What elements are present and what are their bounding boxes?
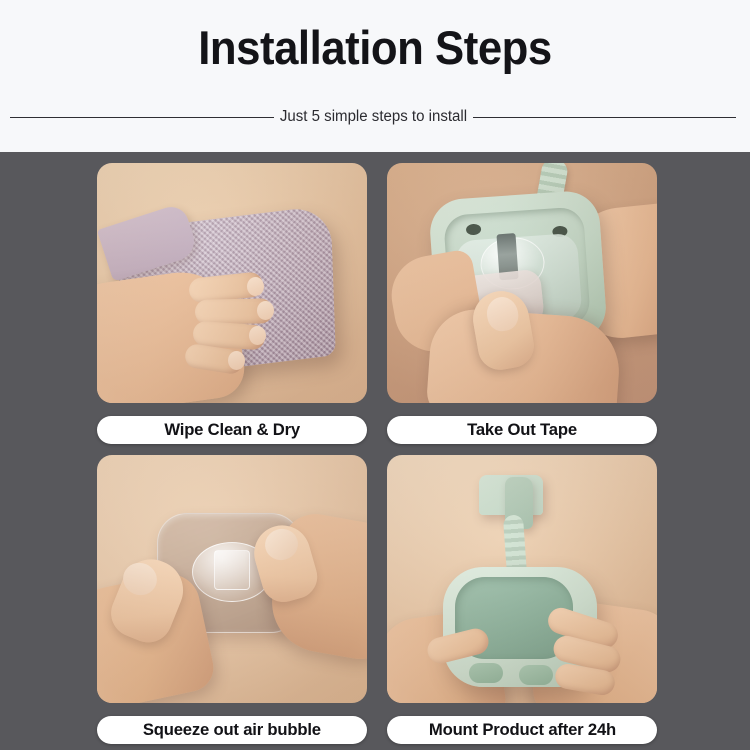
rule-right [473, 117, 737, 118]
installation-steps-page: Installation Steps Just 5 simple steps t… [0, 0, 750, 750]
product-button [469, 663, 503, 683]
step-caption-4: Mount Product after 24h [387, 716, 657, 744]
product-button [519, 665, 553, 685]
step-photo-2 [387, 163, 657, 403]
step-card-1: Wipe Clean & Dry [97, 163, 367, 455]
header-band: Installation Steps Just 5 simple steps t… [0, 0, 750, 152]
photo-scene-wipe-clean [97, 163, 367, 403]
step-card-4: Mount Product after 24h [387, 455, 657, 747]
fingernail [228, 351, 245, 370]
step-caption-3: Squeeze out air bubble [97, 716, 367, 744]
page-title: Installation Steps [26, 20, 724, 76]
step-photo-3 [97, 455, 367, 703]
fingernail [249, 326, 266, 345]
screw-hole [466, 223, 482, 235]
photo-scene-take-out-tape [387, 163, 657, 403]
step-caption-text: Mount Product after 24h [428, 720, 615, 740]
step-photo-1 [97, 163, 367, 403]
step-caption-text: Wipe Clean & Dry [164, 420, 300, 440]
rule-left [10, 117, 274, 118]
page-subtitle: Just 5 simple steps to install [277, 108, 470, 126]
fingernail [247, 277, 264, 296]
step-caption-2: Take Out Tape [387, 416, 657, 444]
subtitle-row: Just 5 simple steps to install [10, 102, 736, 132]
steps-grid: Wipe Clean & Dry [97, 163, 657, 747]
step-caption-text: Squeeze out air bubble [143, 720, 321, 740]
photo-scene-mount-product [387, 455, 657, 703]
steps-body: Wipe Clean & Dry [0, 152, 750, 750]
step-caption-1: Wipe Clean & Dry [97, 416, 367, 444]
mount-clip [214, 550, 250, 590]
step-caption-text: Take Out Tape [467, 420, 577, 440]
step-card-3: Squeeze out air bubble [97, 455, 367, 747]
fingernail [257, 301, 274, 320]
photo-scene-squeeze-air [97, 455, 367, 703]
step-card-2: Take Out Tape [387, 163, 657, 455]
step-photo-4 [387, 455, 657, 703]
